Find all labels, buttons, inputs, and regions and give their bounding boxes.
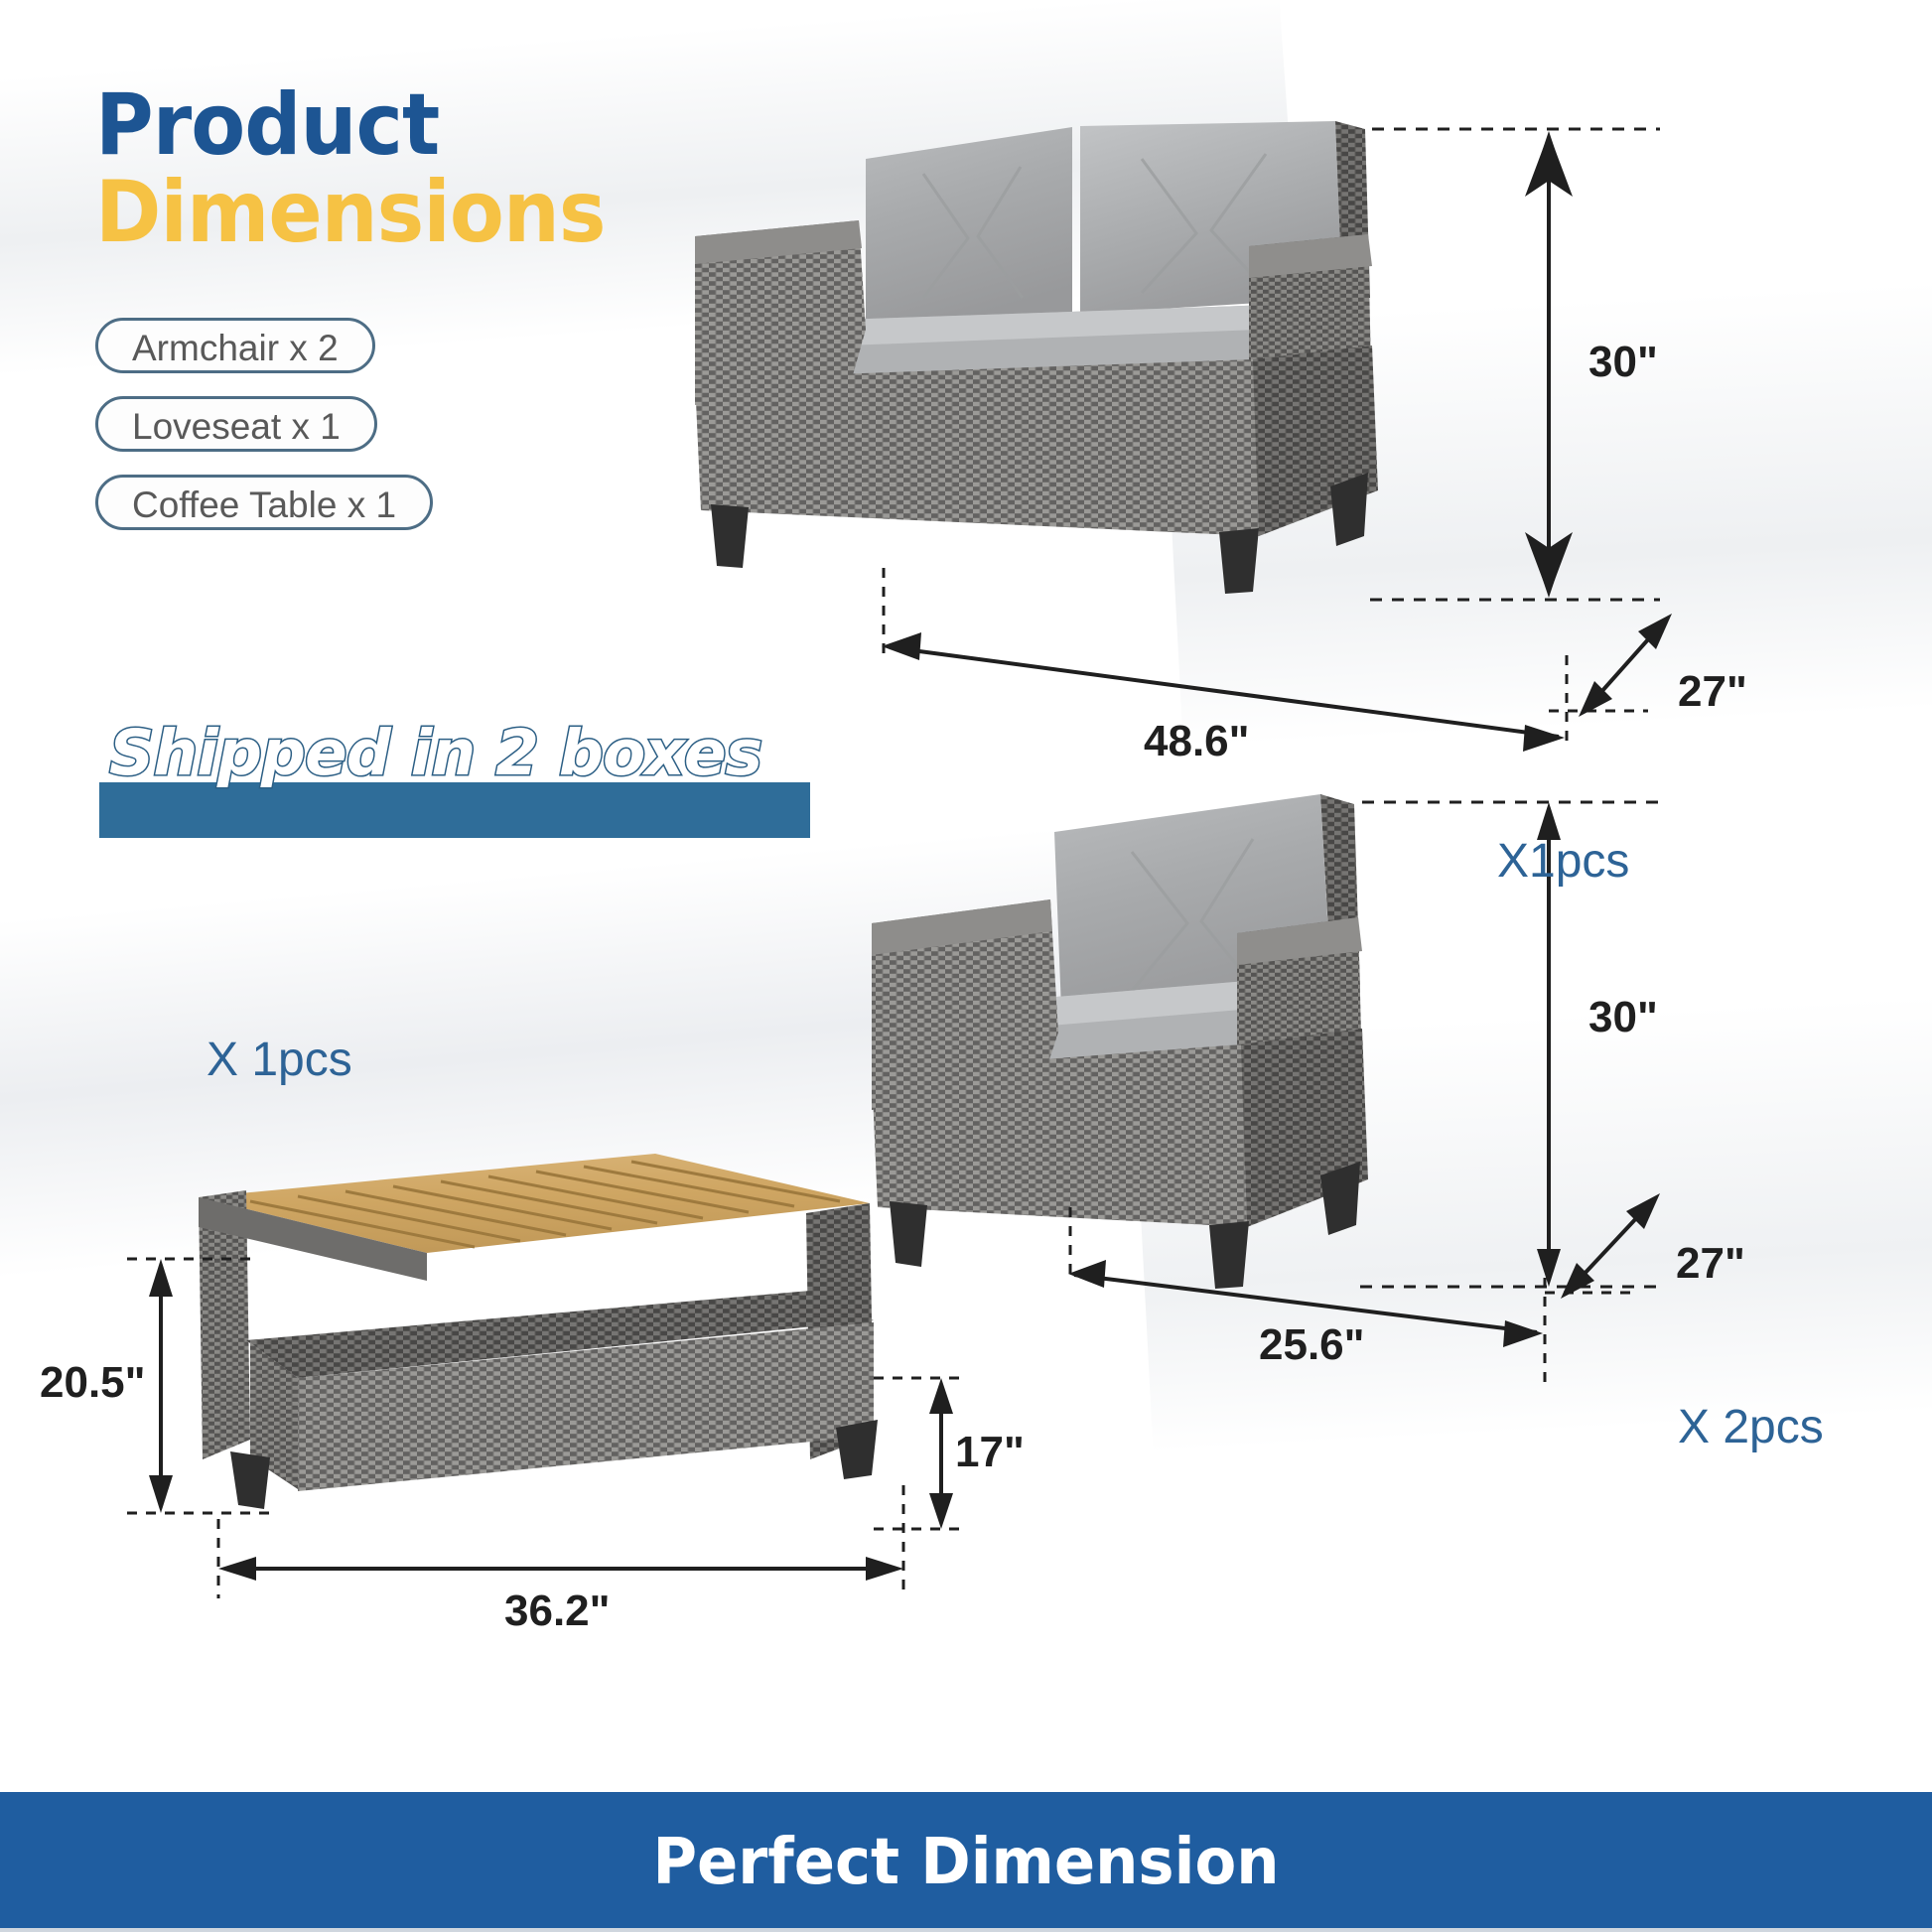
background-swoosh-topright bbox=[1161, 275, 1932, 749]
item-pill-armchair: Armchair x 2 bbox=[95, 318, 375, 373]
armchair-qty-label: X 2pcs bbox=[1678, 1400, 1824, 1454]
coffee-table-shelf-height-label: 17" bbox=[955, 1428, 1025, 1477]
background-swoosh-midleft bbox=[0, 814, 1244, 1292]
list-item: Coffee Table x 1 bbox=[95, 475, 433, 553]
footer-rule bbox=[0, 1928, 1932, 1932]
coffee-table-height-label: 20.5" bbox=[40, 1358, 146, 1408]
included-items-list: Armchair x 2 Loveseat x 1 Coffee Table x… bbox=[95, 318, 433, 553]
shipped-banner-text: Shipped in 2 boxes bbox=[109, 717, 761, 789]
title-line-dimensions: Dimensions bbox=[95, 173, 606, 254]
coffee-table-width-label: 36.2" bbox=[504, 1587, 611, 1636]
armchair-width-label: 25.6" bbox=[1259, 1320, 1365, 1370]
footer-banner-text: Perfect Dimension bbox=[49, 1792, 1884, 1932]
shipped-banner-bar bbox=[99, 782, 810, 838]
loveseat-depth-label: 27" bbox=[1678, 667, 1747, 717]
infographic-canvas: Product Dimensions Armchair x 2 Loveseat… bbox=[0, 0, 1932, 1932]
list-item: Armchair x 2 bbox=[95, 318, 433, 396]
armchair-depth-label: 27" bbox=[1676, 1239, 1745, 1289]
list-item: Loveseat x 1 bbox=[95, 396, 433, 475]
coffee-table-dimension-lines bbox=[127, 1259, 965, 1598]
coffee-table-qty-label: X 1pcs bbox=[207, 1033, 352, 1087]
armchair-height-label: 30" bbox=[1588, 993, 1658, 1042]
item-pill-loveseat: Loveseat x 1 bbox=[95, 396, 377, 452]
page-title: Product Dimensions bbox=[95, 85, 643, 253]
item-pill-coffee-table: Coffee Table x 1 bbox=[95, 475, 433, 530]
loveseat-height-label: 30" bbox=[1588, 338, 1658, 387]
background-swoosh-bottomright bbox=[1132, 990, 1932, 1453]
loveseat-width-label: 48.6" bbox=[1144, 717, 1250, 766]
title-line-product: Product bbox=[95, 85, 606, 167]
loveseat-qty-label: X1pcs bbox=[1497, 834, 1629, 889]
